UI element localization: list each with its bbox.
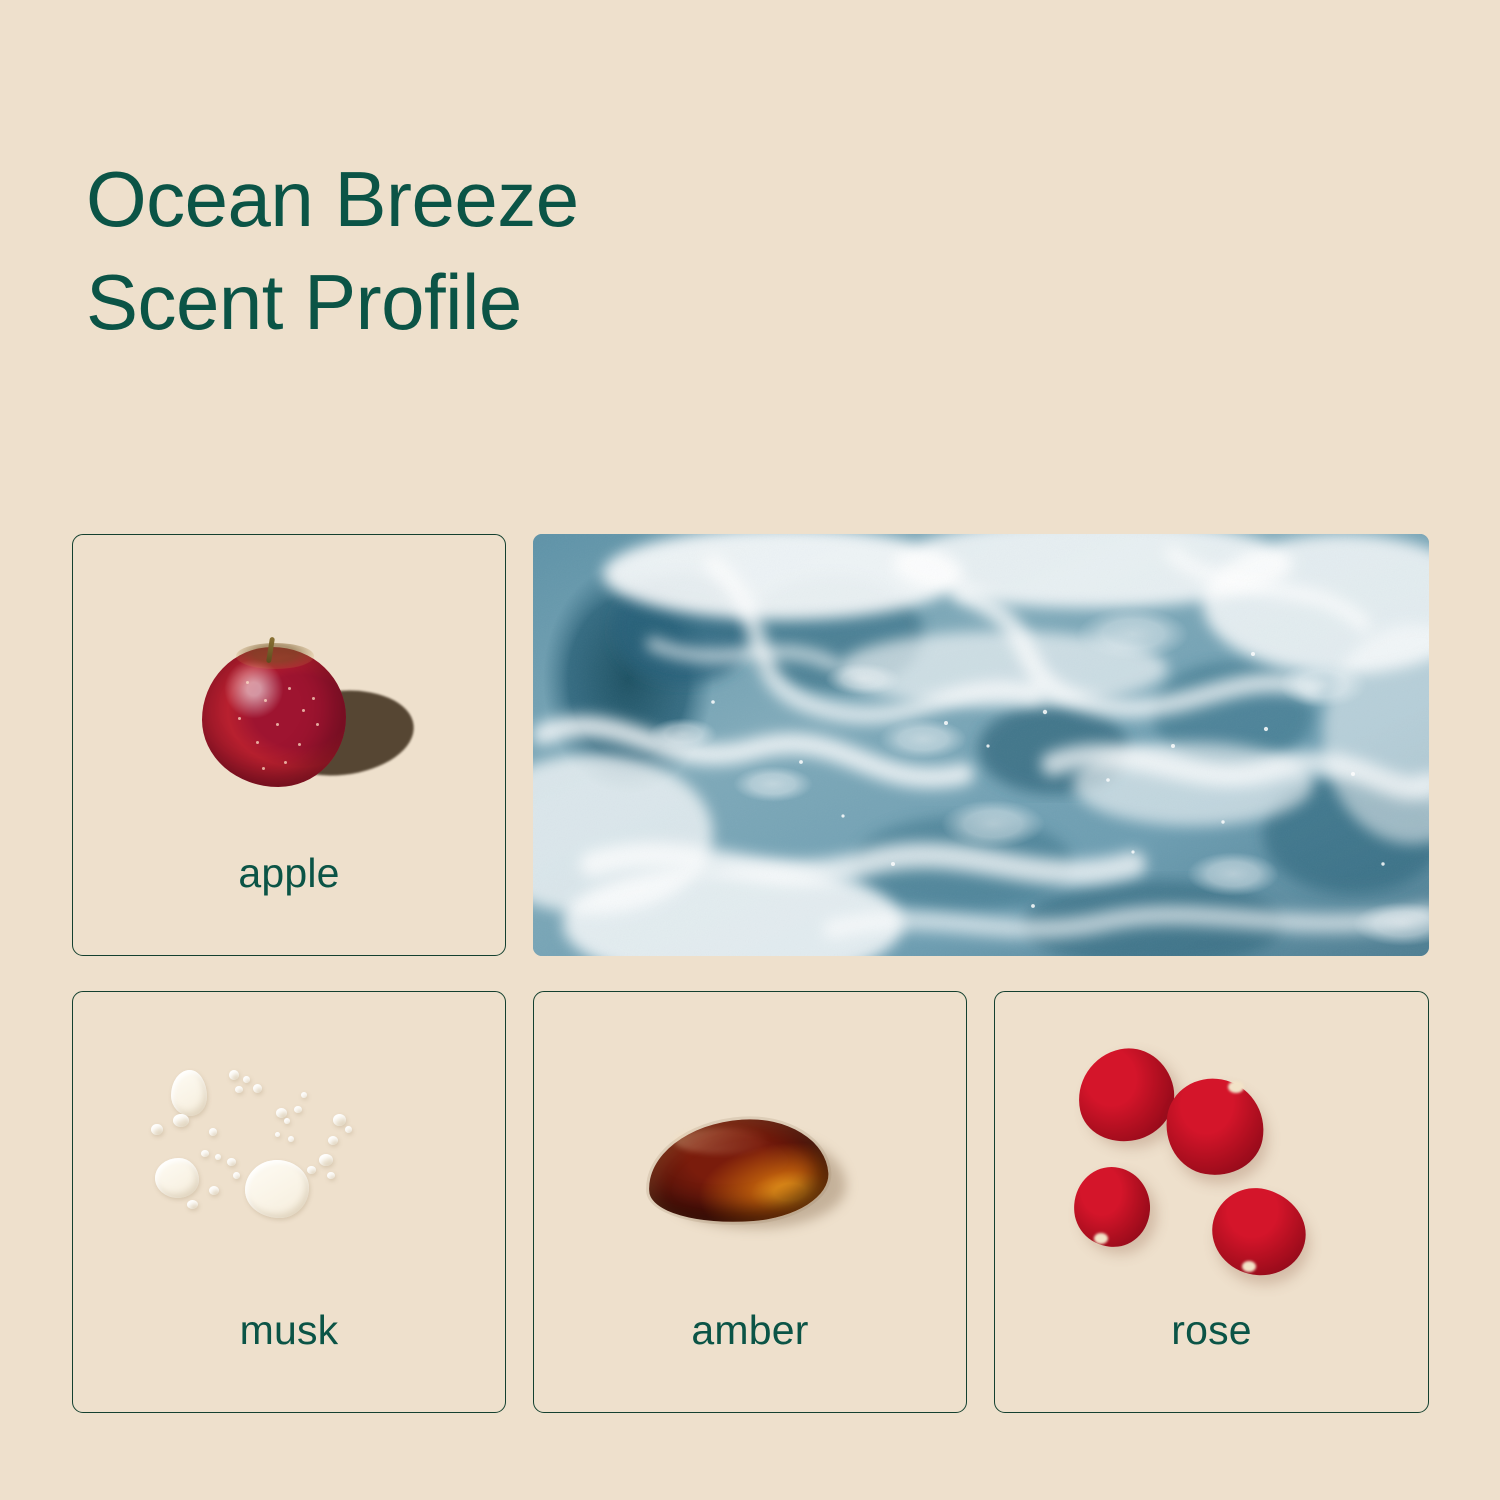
scent-card-label-apple: apple — [73, 850, 505, 897]
page-title: Ocean Breeze Scent Profile — [86, 148, 1086, 354]
scent-card-label-rose: rose — [995, 1307, 1428, 1354]
scent-card-musk[interactable]: musk — [72, 991, 506, 1413]
scent-card-label-musk: musk — [73, 1307, 505, 1354]
scent-note-grid: apple — [72, 534, 1429, 1413]
hero-ocean-image — [533, 534, 1429, 956]
scent-card-rose[interactable]: rose — [994, 991, 1429, 1413]
scent-card-apple[interactable]: apple — [72, 534, 506, 956]
scent-card-amber[interactable]: amber — [533, 991, 967, 1413]
scent-card-label-amber: amber — [534, 1307, 966, 1354]
